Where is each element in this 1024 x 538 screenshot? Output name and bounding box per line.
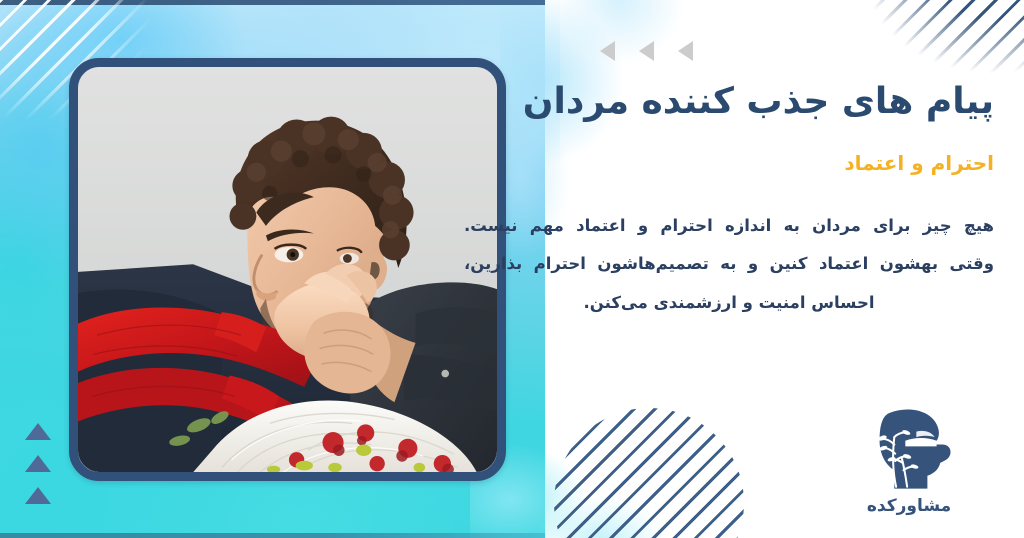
arrow-decoration-row [600,41,693,61]
left-triangle-icon [600,41,615,61]
left-triangle-icon [678,41,693,61]
background-top-strip [0,0,545,5]
body-paragraphs: هیچ چیز برای مردان به اندازه احترام و اع… [464,207,994,323]
up-triangle-icon [25,455,51,472]
brand-name: مشاورکده [867,496,951,516]
brand-logo: مشاورکده [834,404,984,516]
photo-frame [69,58,506,481]
head-profile-with-plants-icon [863,404,955,492]
body-line-1: هیچ چیز برای مردان به اندازه احترام و اع… [464,207,994,246]
text-content: پیام های جذب کننده مردان احترام و اعتماد… [464,78,994,323]
background-bottom-strip [0,533,545,538]
left-triangle-icon [639,41,654,61]
photo-couple-hand-kiss [78,67,497,472]
up-triangle-icon [25,423,51,440]
section-subtitle: احترام و اعتماد [464,149,994,177]
up-triangle-decoration-column [25,423,51,504]
up-triangle-icon [25,487,51,504]
body-line-3: احساس امنیت و ارزشمندی می‌کنن. [464,284,994,323]
page-title: پیام های جذب کننده مردان [464,78,994,127]
body-line-2: وقتی بهشون اعتماد کنین و به تصمیم‌هاشون … [464,245,994,284]
infographic-canvas: پیام های جذب کننده مردان احترام و اعتماد… [0,0,1024,538]
